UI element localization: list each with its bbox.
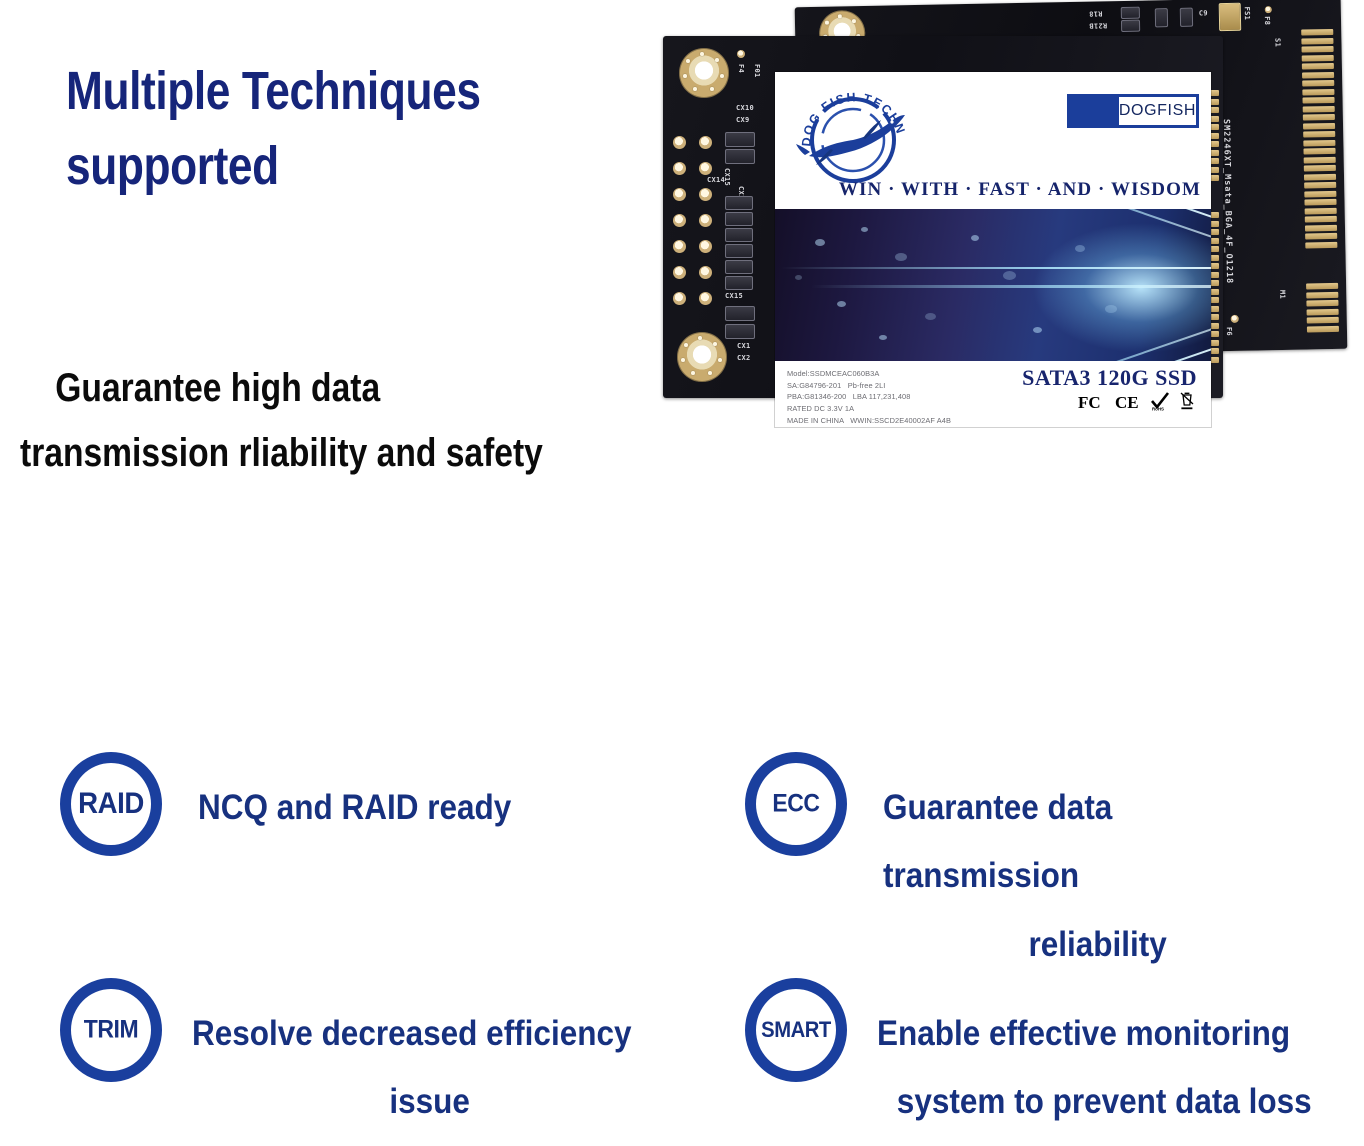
- silkscreen-cx9: CX9: [736, 116, 750, 124]
- test-pad: [673, 292, 686, 305]
- smd-component: [725, 306, 755, 321]
- raid-badge-label: RAID: [78, 787, 144, 821]
- subheading-line-1: Guarantee high data: [20, 356, 591, 421]
- svg-text:FC: FC: [1078, 393, 1101, 411]
- silkscreen-fs1: FS1: [1243, 7, 1251, 21]
- feature-trim: TRIM Resolve decreased efficiency issue: [60, 978, 720, 1137]
- svg-text:DOG FISH TECHNOLOGY: DOG FISH TECHNOLOGY: [793, 82, 908, 147]
- smart-badge-label: SMART: [761, 1017, 831, 1043]
- smd-component: [725, 196, 753, 210]
- capacity-interface-text: SATA3 120G SSD: [1022, 365, 1197, 391]
- trim-badge-label: TRIM: [84, 1016, 138, 1045]
- ecc-badge-icon: ECC: [745, 752, 847, 856]
- test-pad: [673, 214, 686, 227]
- smd-component: [1180, 8, 1193, 27]
- silkscreen-f6: F6: [1225, 327, 1233, 336]
- ecc-badge-label: ECC: [772, 790, 819, 819]
- feature-smart-line-1: Enable effective monitoring: [877, 1014, 1290, 1053]
- test-pad: [699, 292, 712, 305]
- weee-icon: [1179, 391, 1195, 411]
- feature-trim-line-1: Resolve decreased efficiency: [192, 1014, 631, 1053]
- svg-text:CE: CE: [1115, 393, 1139, 411]
- feature-ecc-line-1: Guarantee data transmission: [883, 788, 1112, 895]
- dogfish-logo-stamp: DOG FISH TECHNOLOGY: [793, 82, 913, 194]
- light-streak: [811, 285, 1211, 288]
- light-streak: [980, 325, 1211, 361]
- feature-ecc-text: Guarantee data transmission reliability: [883, 752, 1312, 979]
- test-pad: [673, 266, 686, 279]
- silkscreen-r18: R18: [1089, 9, 1103, 17]
- feature-raid-line-1: NCQ and RAID ready: [198, 788, 511, 827]
- smd-component: [725, 260, 753, 274]
- brand-name: DOGFISH: [1119, 102, 1196, 120]
- smd-component: [725, 149, 755, 164]
- svg-text:RoHS: RoHS: [1152, 407, 1164, 412]
- feature-smart: SMART Enable effective monitoring system…: [745, 978, 1360, 1137]
- light-streak: [937, 209, 1211, 221]
- smd-component: [1155, 8, 1168, 27]
- feature-smart-line-2: system to prevent data loss: [877, 1068, 1312, 1136]
- silkscreen-cx1: CX1: [737, 342, 751, 350]
- feature-trim-text: Resolve decreased efficiency issue: [192, 978, 667, 1137]
- feature-raid-text: NCQ and RAID ready: [198, 752, 511, 842]
- silkscreen-c9: C9: [1199, 9, 1208, 17]
- headline-line-1: Multiple Techniques: [66, 54, 558, 129]
- test-pad: [699, 136, 712, 149]
- dogfish-brand-badge: DOGFISH: [1067, 94, 1199, 128]
- silkscreen-cx10: CX10: [736, 104, 754, 112]
- smd-component: [1121, 20, 1140, 32]
- smd-component: [1121, 7, 1140, 19]
- feature-raid: RAID NCQ and RAID ready: [60, 752, 546, 856]
- raid-badge-icon: RAID: [60, 752, 162, 856]
- certification-marks: FC CE RoHS: [1078, 391, 1195, 411]
- smd-component: [725, 276, 753, 290]
- test-pad: [699, 188, 712, 201]
- msata-edge-connector-rear-2: [1306, 283, 1339, 340]
- product-image-ssd: R18 R21B C9 FS1 F8 S1 M1 SM2246XT_Msata_…: [655, 0, 1364, 415]
- test-pad: [699, 240, 712, 253]
- page-headline: Multiple Techniques supported: [66, 54, 558, 203]
- label-header: DOG FISH TECHNOLOGY DOGFISH: [775, 72, 1211, 209]
- via-pad: [1265, 6, 1272, 13]
- light-streak: [975, 209, 1211, 241]
- pcb-front-board: F4 F01 CX10 CX9 CX15 CX14 CX11 CX15 CX1: [663, 36, 1223, 398]
- smd-component: [725, 212, 753, 226]
- badge-name-box: DOGFISH: [1119, 97, 1196, 125]
- msata-edge-connector-rear: [1301, 29, 1337, 260]
- silkscreen-f01: F01: [753, 64, 761, 78]
- silkscreen-f4: F4: [737, 64, 745, 73]
- silkscreen-m1: M1: [1278, 290, 1286, 299]
- test-pad: [699, 214, 712, 227]
- trim-badge-icon: TRIM: [60, 978, 162, 1082]
- subheading-text: Guarantee high data transmission rliabil…: [20, 356, 591, 486]
- feature-ecc: ECC Guarantee data transmission reliabil…: [745, 752, 1360, 979]
- subheading-line-2: transmission rliability and safety: [20, 421, 591, 486]
- silkscreen-f8: F8: [1263, 16, 1271, 25]
- mounting-hole-pad: [677, 332, 727, 382]
- feature-trim-line-2: issue: [192, 1068, 667, 1136]
- mounting-hole-pad: [679, 48, 729, 98]
- fcc-icon: FC: [1078, 393, 1106, 411]
- smd-component: [725, 132, 755, 147]
- smd-component: [725, 228, 753, 242]
- feature-ecc-line-2: reliability: [883, 911, 1312, 979]
- label-artwork-panel: [775, 209, 1211, 361]
- smart-badge-icon: SMART: [745, 978, 847, 1082]
- rohs-icon: RoHS: [1150, 391, 1170, 411]
- via-pad: [1231, 315, 1239, 323]
- via-pad: [737, 50, 745, 58]
- silkscreen-cx15b: CX15: [725, 292, 743, 300]
- ce-icon: CE: [1115, 393, 1141, 411]
- product-label: DOG FISH TECHNOLOGY DOGFISH: [775, 72, 1211, 427]
- silkscreen-s1: S1: [1273, 38, 1281, 47]
- fuse-component: [1219, 3, 1242, 31]
- test-pad: [699, 162, 712, 175]
- test-pad: [673, 162, 686, 175]
- smd-component: [725, 244, 753, 258]
- badge-color-block: [1069, 96, 1118, 126]
- test-pad: [673, 240, 686, 253]
- label-spec-panel: Model:SSDMCEAC060B3A SA:G84796-201 Pb-fr…: [775, 361, 1211, 427]
- test-pad: [699, 266, 712, 279]
- test-pad: [673, 136, 686, 149]
- feature-smart-text: Enable effective monitoring system to pr…: [877, 978, 1312, 1137]
- silkscreen-cx14: CX14: [707, 176, 725, 184]
- silkscreen-cx2: CX2: [737, 354, 751, 362]
- headline-line-2: supported: [66, 129, 558, 204]
- light-streak: [937, 345, 1211, 361]
- brand-tagline: WIN · WITH · FAST · AND · WISDOM: [839, 179, 1201, 201]
- silkscreen-r21b: R21B: [1089, 21, 1107, 29]
- test-pad: [673, 188, 686, 201]
- light-streak: [781, 267, 1211, 269]
- smd-component: [725, 324, 755, 339]
